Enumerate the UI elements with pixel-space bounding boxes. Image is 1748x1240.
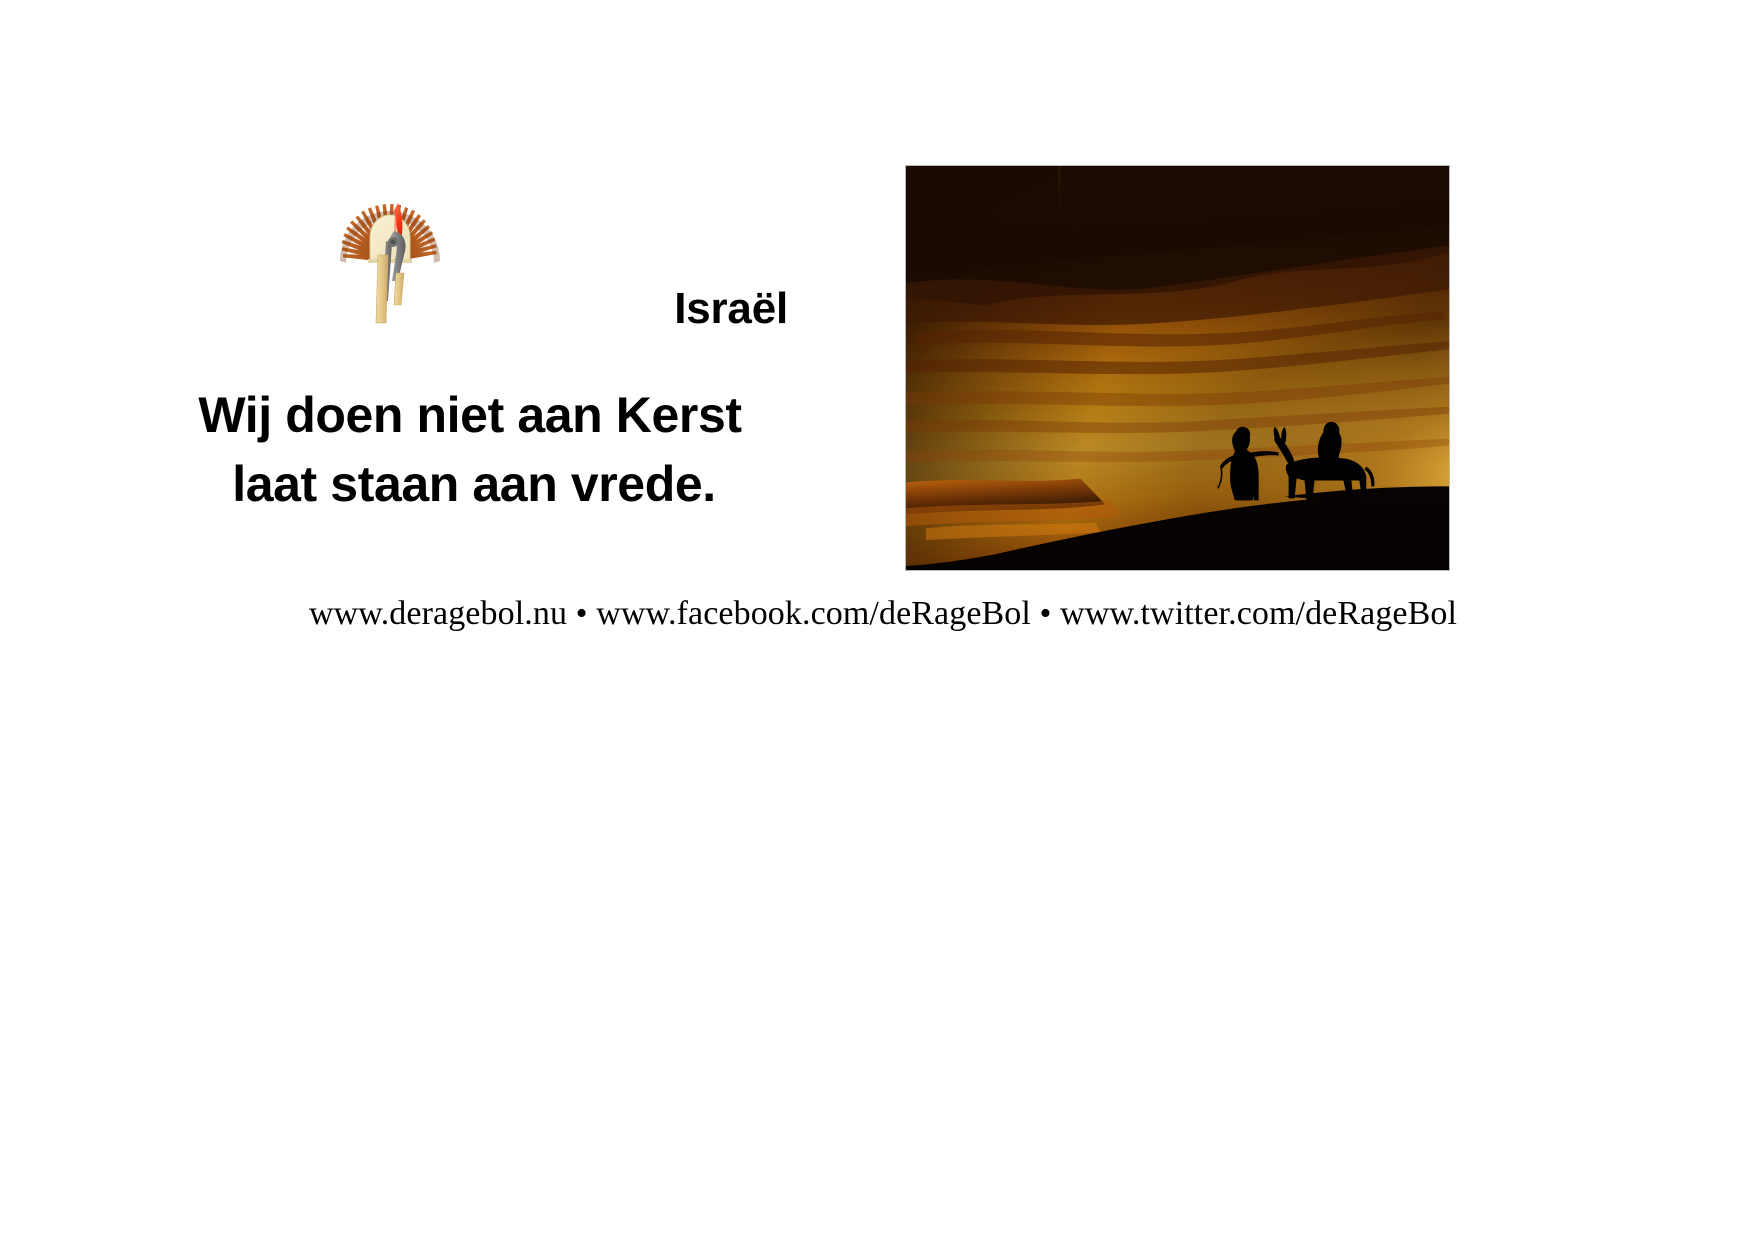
poster-page: Israël Wij doen niet aan Kerst laat staa…	[0, 0, 1748, 1240]
sunset-nativity-photo	[905, 165, 1450, 571]
slogan: Wij doen niet aan Kerst laat staan aan v…	[150, 381, 790, 519]
country-label: Israël	[150, 285, 790, 333]
slogan-line-2: laat staan aan vrede.	[150, 450, 790, 519]
footer-urls[interactable]: www.deragebol.nu • www.facebook.com/deRa…	[0, 595, 1748, 633]
slogan-line-1: Wij doen niet aan Kerst	[150, 381, 790, 450]
headline-block: Israël Wij doen niet aan Kerst laat staa…	[150, 285, 790, 519]
